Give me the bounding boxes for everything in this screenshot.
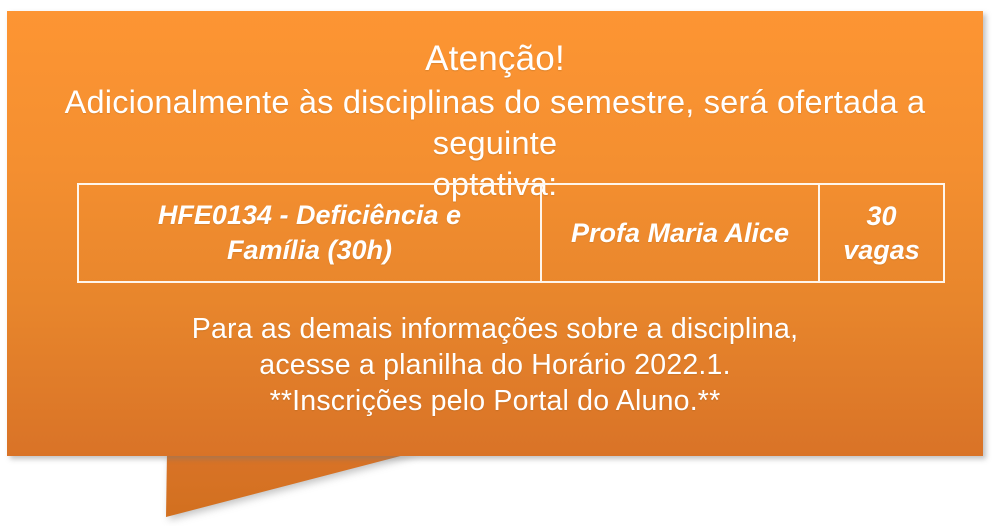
course-name-line-1: HFE0134 - Deficiência e: [158, 200, 461, 230]
offered-course-table: HFE0134 - Deficiência e Família (30h) Pr…: [77, 183, 945, 283]
table-cell-teacher: Profa Maria Alice: [542, 185, 820, 281]
speech-bubble-body: Atenção! Adicionalmente às disciplinas d…: [7, 11, 983, 456]
footer-line-1: Para as demais informações sobre a disci…: [7, 311, 983, 347]
table-cell-course-name: HFE0134 - Deficiência e Família (30h): [79, 185, 542, 281]
footer-line-3: **Inscrições pelo Portal do Aluno.**: [7, 383, 983, 419]
course-name-line-2: Família (30h): [227, 235, 392, 265]
footer-line-2: acesse a planilha do Horário 2022.1.: [7, 347, 983, 383]
seats-label: vagas: [843, 235, 920, 265]
notice-banner: Atenção! Adicionalmente às disciplinas d…: [0, 0, 995, 526]
table-cell-seats: 30 vagas: [820, 185, 943, 281]
page-title: Atenção!: [425, 38, 565, 80]
seats-count: 30: [866, 201, 896, 231]
footer-text: Para as demais informações sobre a disci…: [7, 311, 983, 419]
intro-line-1: Adicionalmente às disciplinas do semestr…: [30, 82, 960, 164]
